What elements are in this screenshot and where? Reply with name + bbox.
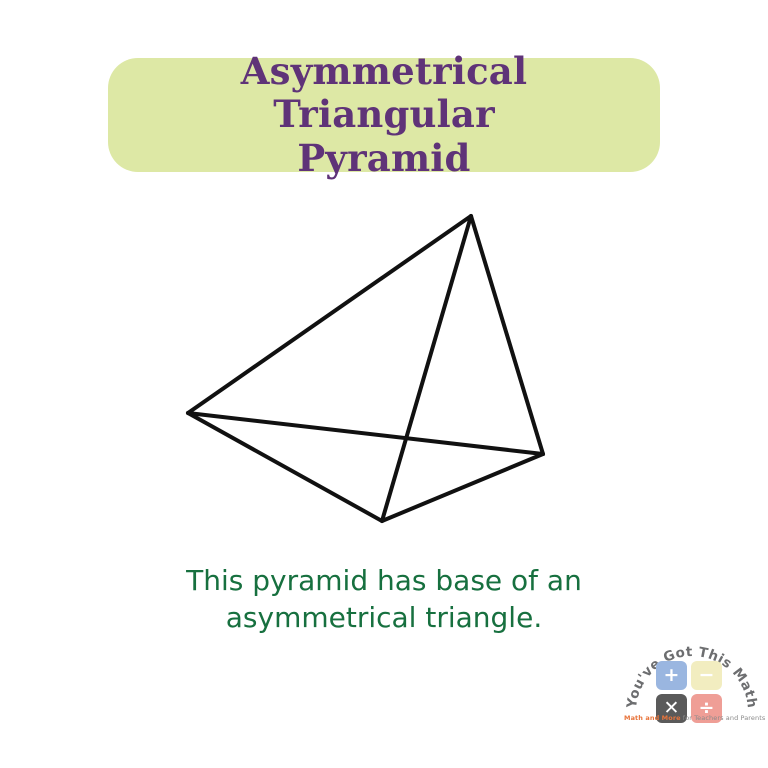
pyramid-drawing xyxy=(0,190,768,540)
pyramid-edge-group xyxy=(188,216,543,521)
edge-left-front xyxy=(188,413,382,521)
caption-text: This pyramid has base of an asymmetrical… xyxy=(94,562,674,636)
logo-tagline: Math and More for Teachers and Parents xyxy=(624,714,760,722)
page-title: Asymmetrical Triangular Pyramid xyxy=(108,50,660,181)
plus-tile-icon: + xyxy=(656,661,687,690)
slide-canvas: Asymmetrical Triangular Pyramid This pyr… xyxy=(0,0,768,768)
minus-tile-icon: − xyxy=(691,661,722,690)
title-banner: Asymmetrical Triangular Pyramid xyxy=(108,58,660,172)
edge-apex-left xyxy=(188,216,471,413)
edge-apex-right xyxy=(471,216,543,454)
pyramid-figure xyxy=(0,190,768,540)
logo-tagline-highlight: Math and More xyxy=(624,714,681,722)
edge-right-front xyxy=(382,454,543,521)
brand-logo: You've Got This Math + − ✕ ÷ Math and Mo… xyxy=(622,624,762,740)
edge-left-right xyxy=(188,413,543,454)
logo-tagline-rest: for Teachers and Parents xyxy=(681,714,766,722)
edge-apex-front xyxy=(382,216,471,521)
